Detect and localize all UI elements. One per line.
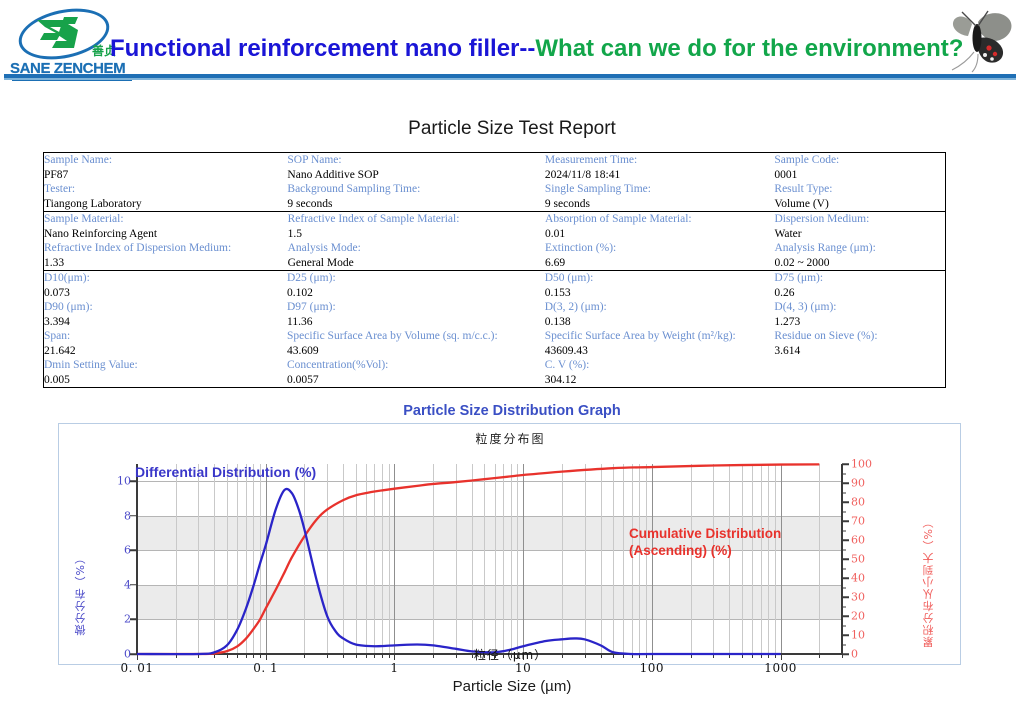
field-value: 0.153 xyxy=(545,286,775,301)
particle-size-distribution-chart: 粒度分布图 微分分布（%） 累积分布从小到大（%） 02468100102030… xyxy=(58,423,961,665)
field-value: 43.609 xyxy=(287,344,545,359)
field-label: D(3, 2) (μm): xyxy=(545,300,775,315)
field-label: D97 (μm): xyxy=(287,300,545,315)
graph-title: Particle Size Distribution Graph xyxy=(0,403,1024,419)
field-value: Nano Reinforcing Agent xyxy=(44,227,288,242)
y-axis-right-minor-tick xyxy=(842,549,846,550)
x-axis-tick-label: 0. 01 xyxy=(120,661,153,675)
y-axis-right-tick-mark xyxy=(842,577,849,579)
field-value: 0.0057 xyxy=(287,373,545,388)
y-axis-right-tick-mark xyxy=(842,463,849,465)
field-label: Concentration(%Vol): xyxy=(287,358,545,373)
field-value: General Mode xyxy=(288,256,545,271)
field-label: D90 (μm): xyxy=(44,300,287,315)
field-value: 2024/11/8 18:41 xyxy=(545,168,775,183)
table-cell: Dispersion Medium: Water Analysis Range … xyxy=(774,212,945,270)
table-cell: Sample Material: Nano Reinforcing Agent … xyxy=(44,212,288,270)
x-axis-tick-label: 0. 1 xyxy=(253,661,278,675)
field-value: 3.614 xyxy=(774,344,945,359)
chart-caption: Particle Size (µm) xyxy=(0,678,1024,695)
y-axis-right-minor-tick xyxy=(842,587,846,588)
y-axis-right-minor-tick xyxy=(842,625,846,626)
field-value: 0001 xyxy=(774,168,945,183)
field-value: 1.33 xyxy=(44,256,288,271)
field-value: PF87 xyxy=(44,168,287,183)
table-cell: Absorption of Sample Material: 0.01 Exti… xyxy=(545,212,774,270)
field-label: D(4, 3) (μm): xyxy=(774,300,945,315)
table-cell: Sample Code: 0001 Result Type: Volume (V… xyxy=(774,153,945,211)
y-axis-right-tick: 90 xyxy=(851,477,865,490)
page-title-secondary: What can we do for the environment? xyxy=(535,35,963,62)
y-axis-right-tick-mark xyxy=(842,558,849,560)
field-label: D50 (μm): xyxy=(545,271,775,286)
table-row: Sample Name: PF87 Tester: Tiangong Labor… xyxy=(44,153,945,211)
y-axis-right-tick-mark xyxy=(842,482,849,484)
field-label: Absorption of Sample Material: xyxy=(545,212,774,227)
field-label: Dispersion Medium: xyxy=(774,212,945,227)
y-axis-left-tick-mark xyxy=(130,515,137,517)
field-label: D25 (μm): xyxy=(287,271,545,286)
y-axis-right-label: 累积分布从小到大（%） xyxy=(921,516,937,647)
table-cell: D10(μm): 0.073 D90 (μm): 3.394 Span: 21.… xyxy=(44,271,287,387)
table-cell: D50 (μm): 0.153 D(3, 2) (μm): 0.138 Spec… xyxy=(545,271,775,387)
field-value: Water xyxy=(774,227,945,242)
legend-cumulative: Cumulative Distribution(Ascending) (%) xyxy=(629,525,781,559)
field-label: D75 (μm): xyxy=(774,271,945,286)
x-axis-label: 粒径（μm） xyxy=(59,646,962,663)
field-label: Sample Material: xyxy=(44,212,288,227)
field-label: Analysis Mode: xyxy=(288,241,545,256)
field-label: Specific Surface Area by Volume (sq. m/c… xyxy=(287,329,545,344)
y-axis-right-tick-mark xyxy=(842,615,849,617)
y-axis-right-tick: 100 xyxy=(851,458,872,471)
field-value: 6.69 xyxy=(545,256,774,271)
table-cell: D75 (μm): 0.26 D(4, 3) (μm): 1.273 Resid… xyxy=(774,271,945,387)
table-cell: Sample Name: PF87 Tester: Tiangong Labor… xyxy=(44,153,287,211)
field-value: 9 seconds xyxy=(545,197,775,212)
y-axis-right-tick: 80 xyxy=(851,496,865,509)
y-axis-left-tick-mark xyxy=(130,550,137,552)
table-row: D10(μm): 0.073 D90 (μm): 3.394 Span: 21.… xyxy=(44,271,945,387)
field-value: 0.01 xyxy=(545,227,774,242)
y-axis-left-tick: 10 xyxy=(117,475,131,488)
field-value: Volume (V) xyxy=(774,197,945,212)
legend-differential: Differential Distribution (%) xyxy=(135,464,316,480)
y-axis-right-minor-tick xyxy=(842,644,846,645)
table-block-statistics: D10(μm): 0.073 D90 (μm): 3.394 Span: 21.… xyxy=(44,271,946,388)
y-axis-right-tick: 60 xyxy=(851,534,865,547)
y-axis-right-tick: 70 xyxy=(851,515,865,528)
field-label: Measurement Time: xyxy=(545,153,775,168)
x-axis-tick-label: 1000 xyxy=(764,661,797,675)
field-label: Tester: xyxy=(44,182,287,197)
y-axis-right-tick-mark xyxy=(842,501,849,503)
legend-cumulative-line1: Cumulative Distribution xyxy=(629,525,781,542)
field-value: 0.138 xyxy=(545,315,775,330)
field-value: Tiangong Laboratory xyxy=(44,197,287,212)
y-axis-right-tick: 20 xyxy=(851,610,865,623)
header-divider-secondary xyxy=(4,78,1016,80)
field-label: Background Sampling Time: xyxy=(287,182,545,197)
field-value: 0.005 xyxy=(44,373,287,388)
field-value: 0.26 xyxy=(774,286,945,301)
y-axis-left-tick-mark xyxy=(130,584,137,586)
y-axis-right-minor-tick xyxy=(842,606,846,607)
field-value: Nano Additive SOP xyxy=(287,168,545,183)
field-label: Sample Code: xyxy=(774,153,945,168)
field-value: 1.273 xyxy=(774,315,945,330)
field-value: 1.5 xyxy=(288,227,545,242)
field-label: Refractive Index of Sample Material: xyxy=(288,212,545,227)
report-title: Particle Size Test Report xyxy=(0,118,1024,140)
y-axis-right-tick-mark xyxy=(842,539,849,541)
table-row: Sample Material: Nano Reinforcing Agent … xyxy=(44,212,945,270)
field-value: 304.12 xyxy=(545,373,775,388)
field-label: SOP Name: xyxy=(287,153,545,168)
chart-subtitle: 粒度分布图 xyxy=(59,430,962,447)
y-axis-left-tick-mark xyxy=(130,619,137,621)
table-cell: Measurement Time: 2024/11/8 18:41 Single… xyxy=(545,153,775,211)
y-axis-left-label: 微分分布（%） xyxy=(73,552,89,635)
page-title: Functional reinforcement nano filler--Wh… xyxy=(110,28,1024,70)
field-label: Analysis Range (μm): xyxy=(774,241,945,256)
y-axis-right-minor-tick xyxy=(842,473,846,474)
y-axis-right-tick: 50 xyxy=(851,553,865,566)
y-axis-right-tick-mark xyxy=(842,520,849,522)
field-value: 21.642 xyxy=(44,344,287,359)
y-axis-right-minor-tick xyxy=(842,530,846,531)
legend-cumulative-line2: (Ascending) (%) xyxy=(629,542,781,559)
y-axis-left-tick-mark xyxy=(130,481,137,483)
field-value: 0.02 ~ 2000 xyxy=(774,256,945,271)
field-value: 0.073 xyxy=(44,286,287,301)
field-label: Residue on Sieve (%): xyxy=(774,329,945,344)
field-label: Extinction (%): xyxy=(545,241,774,256)
y-axis-right-tick-mark xyxy=(842,634,849,636)
x-axis-tick-label: 10 xyxy=(515,661,531,675)
logo-sz-mark-icon xyxy=(34,15,90,53)
y-axis-right-minor-tick xyxy=(842,568,846,569)
differential-distribution-curve xyxy=(137,489,781,654)
field-label: Specific Surface Area by Weight (m²/kg): xyxy=(545,329,775,344)
table-cell: Refractive Index of Sample Material: 1.5… xyxy=(288,212,545,270)
x-axis-tick-label: 100 xyxy=(640,661,664,675)
y-axis-right-minor-tick xyxy=(842,511,846,512)
y-axis-right-minor-tick xyxy=(842,492,846,493)
butterfly-icon xyxy=(928,8,1020,74)
field-value: 3.394 xyxy=(44,315,287,330)
field-label: Single Sampling Time: xyxy=(545,182,775,197)
field-value: 9 seconds xyxy=(287,197,545,212)
table-cell: SOP Name: Nano Additive SOP Background S… xyxy=(287,153,545,211)
field-value: 0.102 xyxy=(287,286,545,301)
particle-size-report-table: Sample Name: PF87 Tester: Tiangong Labor… xyxy=(43,152,946,388)
field-label: Span: xyxy=(44,329,287,344)
table-block-info: Sample Name: PF87 Tester: Tiangong Labor… xyxy=(44,153,946,212)
y-axis-right-tick: 30 xyxy=(851,591,865,604)
field-label: D10(μm): xyxy=(44,271,287,286)
field-value: 43609.43 xyxy=(545,344,775,359)
field-label: C. V (%): xyxy=(545,358,775,373)
chart-curves xyxy=(137,464,842,654)
y-axis-right-tick-mark xyxy=(842,596,849,598)
field-label: Refractive Index of Dispersion Medium: xyxy=(44,241,288,256)
field-label: Result Type: xyxy=(774,182,945,197)
field-value: 11.36 xyxy=(287,315,545,330)
field-label: Sample Name: xyxy=(44,153,287,168)
field-label: Dmin Setting Value: xyxy=(44,358,287,373)
page-header: 善贞 SANE ZENCHEM Functional reinforcement… xyxy=(0,0,1024,88)
x-axis-tick-label: 1 xyxy=(390,661,398,675)
y-axis-right-tick: 40 xyxy=(851,572,865,585)
page-title-primary: Functional reinforcement nano filler-- xyxy=(110,35,535,62)
table-cell: D25 (μm): 0.102 D97 (μm): 11.36 Specific… xyxy=(287,271,545,387)
y-axis-right-tick: 10 xyxy=(851,629,865,642)
table-block-material: Sample Material: Nano Reinforcing Agent … xyxy=(44,212,946,271)
